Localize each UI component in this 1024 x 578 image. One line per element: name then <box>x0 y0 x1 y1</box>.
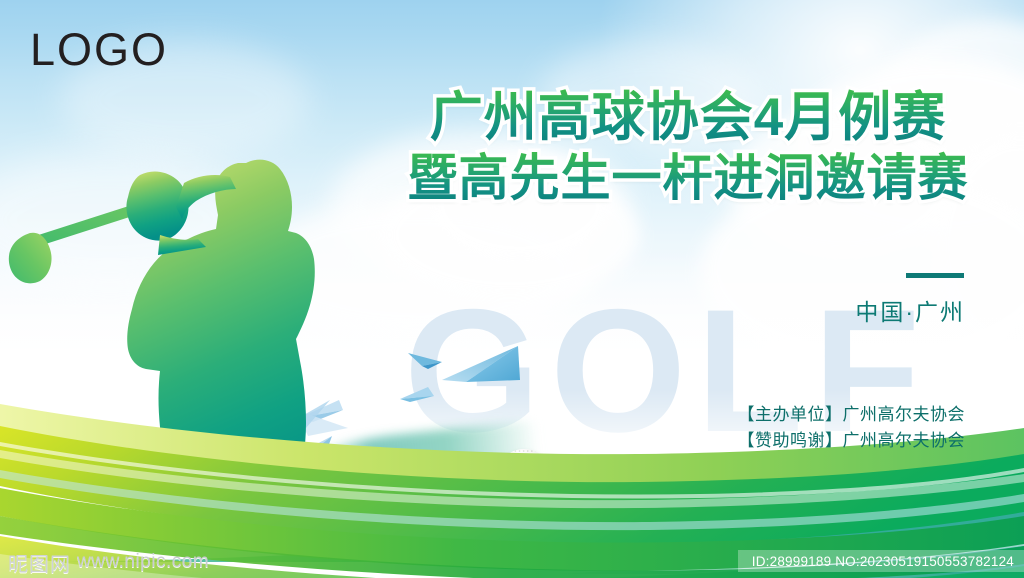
site-watermark-url: www.nipic.com <box>77 551 209 573</box>
title-block: 广州高球协会4月例赛 广州高球协会4月例赛 暨高先生一杆进洞邀请赛 暨高先生一杆… <box>398 88 978 208</box>
sponsor-block: 【主办单位】广州高尔夫协会 【赞助鸣谢】广州高尔夫协会 <box>640 402 965 454</box>
title-line-2-fill: 暨高先生一杆进洞邀请赛 <box>408 150 969 206</box>
sponsor-line-thanks: 【赞助鸣谢】广州高尔夫协会 <box>640 428 965 454</box>
wave-graphics <box>0 330 1024 578</box>
title-divider <box>906 273 964 278</box>
title-line-1-fill: 广州高球协会4月例赛 <box>430 88 946 147</box>
poster-canvas: GOLF <box>0 0 1024 578</box>
location-text: 中国·广州 <box>700 293 965 327</box>
site-watermark: 昵图网 www.nipic.com <box>8 549 209 575</box>
image-id-watermark: ID:28999189 NO:20230519150553782124 <box>738 550 1024 572</box>
sponsor-line-organizer: 【主办单位】广州高尔夫协会 <box>640 402 965 428</box>
logo-text[interactable]: LOGO <box>30 24 168 76</box>
title-line-1: 广州高球协会4月例赛 广州高球协会4月例赛 <box>398 88 978 148</box>
site-watermark-cn: 昵图网 <box>8 548 71 577</box>
title-line-2: 暨高先生一杆进洞邀请赛 暨高先生一杆进洞邀请赛 <box>398 148 978 208</box>
